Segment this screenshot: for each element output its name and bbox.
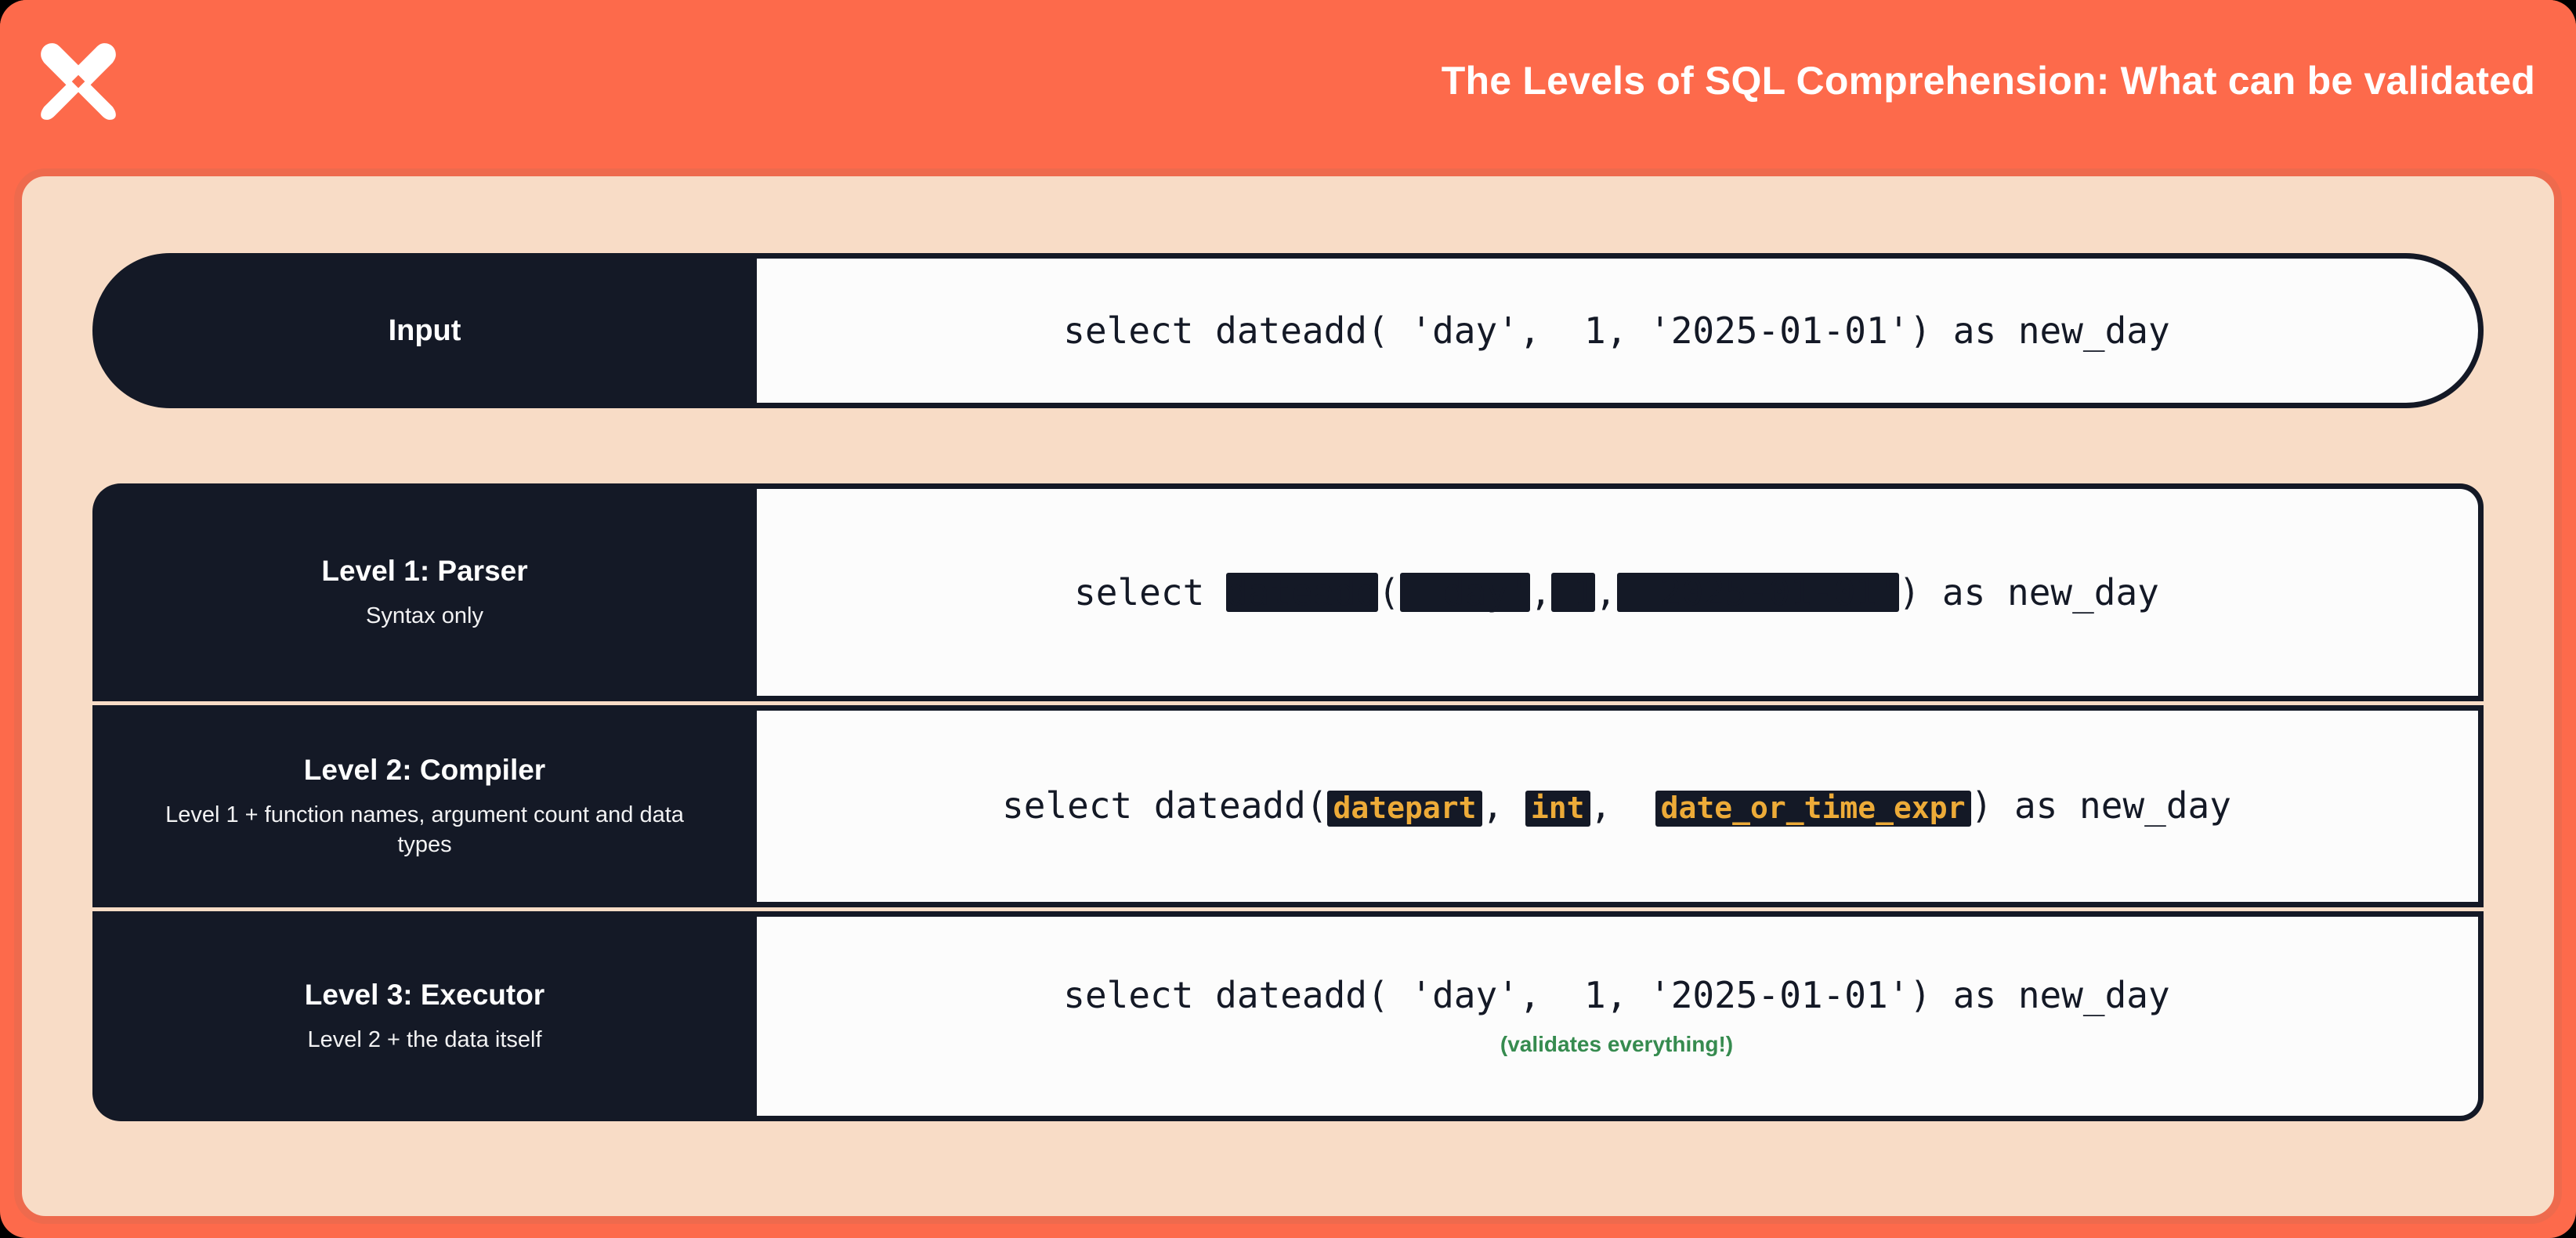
input-code-cell: select dateadd( 'day', 1, '2025-01-01') … [755,253,2484,408]
redacted-arg-int: 1 [1551,573,1594,613]
input-label: Input [92,253,757,408]
level-2-sql-code: select dateadd(datepart, int, date_or_ti… [1002,786,2231,827]
infographic-frame: The Levels of SQL Comprehension: What ca… [0,0,2576,1238]
code-segment: select dateadd( [1002,784,1327,827]
redacted-arg-datepart: 'day' [1400,573,1530,613]
level-1-sql-code: select dateadd( 'day', 1, '2025-01-01') … [1074,573,2159,613]
code-segment: ( [1378,571,1400,614]
code-segment: , [1482,784,1525,827]
page-title: The Levels of SQL Comprehension: What ca… [1442,58,2535,103]
token-datepart: datepart [1327,791,1482,827]
level-2-label-cell: Level 2: Compiler Level 1 + function nam… [92,705,757,907]
level-row: Level 2: Compiler Level 1 + function nam… [92,705,2484,907]
level-title: Level 3: Executor [305,978,545,1012]
validates-everything-note: (validates everything!) [1500,1032,1733,1057]
level-subtitle: Level 2 + the data itself [307,1025,541,1055]
redacted-function-name: dateadd [1226,573,1378,613]
level-3-sql-code: select dateadd( 'day', 1, '2025-01-01') … [1063,976,2169,1015]
level-1-code-cell: select dateadd( 'day', 1, '2025-01-01') … [755,483,2484,701]
content-panel: Input select dateadd( 'day', 1, '2025-01… [14,168,2562,1224]
code-segment: ) as new_day [1971,784,2231,827]
header-bar: The Levels of SQL Comprehension: What ca… [0,0,2576,161]
level-row: Level 3: Executor Level 2 + the data its… [92,911,2484,1121]
level-subtitle: Level 1 + function names, argument count… [150,800,699,860]
token-int: int [1525,791,1590,827]
input-row: Input select dateadd( 'day', 1, '2025-01… [92,253,2484,408]
x-mark-logo-icon [38,40,119,121]
level-row: Level 1: Parser Syntax only select datea… [92,483,2484,701]
level-3-label-cell: Level 3: Executor Level 2 + the data its… [92,911,757,1121]
level-3-code-cell: select dateadd( 'day', 1, '2025-01-01') … [755,911,2484,1121]
code-segment: , [1590,784,1655,827]
redacted-arg-date: '2025-01-01' [1617,573,1899,613]
level-title: Level 1: Parser [321,554,527,588]
level-1-label-cell: Level 1: Parser Syntax only [92,483,757,701]
level-title: Level 2: Compiler [304,753,545,787]
code-segment: select [1074,571,1226,614]
code-segment: , [1530,571,1552,614]
level-subtitle: Syntax only [366,601,483,631]
levels-table: Level 1: Parser Syntax only select datea… [92,483,2484,1121]
code-segment: ) as new_day [1899,571,2159,614]
input-sql-code: select dateadd( 'day', 1, '2025-01-01') … [1063,311,2169,351]
level-2-code-cell: select dateadd(datepart, int, date_or_ti… [755,705,2484,907]
token-date-or-time-expr: date_or_time_expr [1655,791,1971,827]
code-segment: , [1595,571,1617,614]
